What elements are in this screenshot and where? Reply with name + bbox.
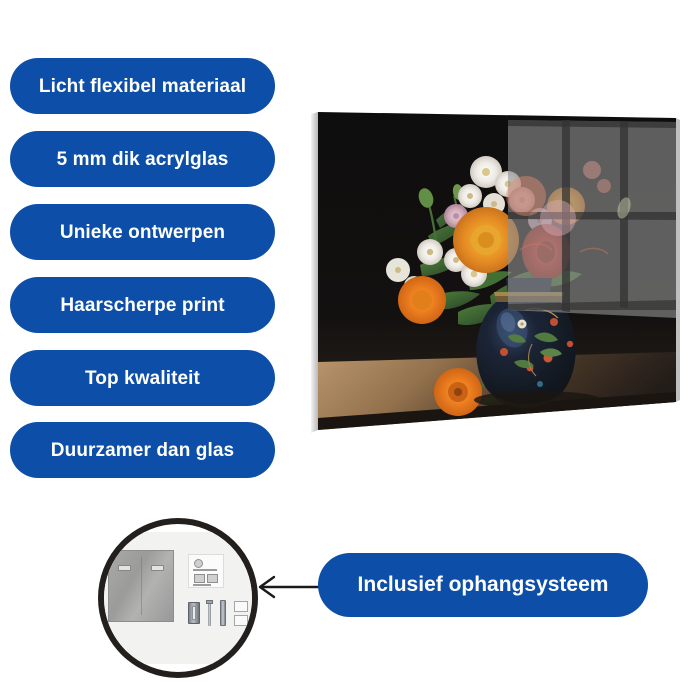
screw-shaft xyxy=(208,604,211,626)
leaflet-text-line-1 xyxy=(193,569,217,571)
feature-pill-duurzamer-dan-glas[interactable]: Duurzamer dan glas xyxy=(10,422,275,478)
acrylic-print-product-image xyxy=(308,100,688,450)
acrylic-edge-right xyxy=(676,118,680,402)
callout-pill-label: Inclusief ophangsysteem xyxy=(358,573,609,597)
leaflet-icon-3 xyxy=(207,574,218,583)
wall-plug xyxy=(188,602,200,624)
feature-pill-unieke-ontwerpen[interactable]: Unieke ontwerpen xyxy=(10,204,275,260)
leaflet-icon-2 xyxy=(194,574,205,583)
callout-pill-inclusief-ophangsysteem[interactable]: Inclusief ophangsysteem xyxy=(318,553,648,617)
plate-hook-right xyxy=(151,565,164,571)
leaflet-icon-1 xyxy=(194,559,203,568)
feature-pill-haarscherpe-print[interactable]: Haarscherpe print xyxy=(10,277,275,333)
feature-pill-top-kwaliteit[interactable]: Top kwaliteit xyxy=(10,350,275,406)
plate-hook-left xyxy=(118,565,131,571)
feature-pill-licht-flexibel-materiaal[interactable]: Licht flexibel materiaal xyxy=(10,58,275,114)
wall-mounting-plate xyxy=(108,550,174,622)
mounting-kit-circle xyxy=(98,518,258,678)
feature-pill-label: Top kwaliteit xyxy=(85,369,200,388)
instruction-leaflet xyxy=(188,554,224,588)
mounting-kit-photo xyxy=(98,532,258,664)
spacer xyxy=(220,600,226,626)
feature-pill-label: Unieke ontwerpen xyxy=(60,223,225,242)
leaflet-text-line-2 xyxy=(193,584,211,586)
artwork-svg xyxy=(308,100,688,450)
feature-pill-label: Haarscherpe print xyxy=(60,296,224,315)
feature-pill-label: Licht flexibel materiaal xyxy=(39,77,246,96)
feature-pill-label: Duurzamer dan glas xyxy=(51,441,234,460)
feature-pill-label: 5 mm dik acrylglas xyxy=(57,150,229,169)
screw xyxy=(206,600,213,626)
adhesive-pad-bottom xyxy=(234,615,248,626)
acrylic-gloss-sheen xyxy=(318,112,676,430)
adhesive-pad-top xyxy=(234,601,248,612)
feature-pill-5-mm-dik-acrylglas[interactable]: 5 mm dik acrylglas xyxy=(10,131,275,187)
acrylic-edge-left xyxy=(311,112,318,433)
